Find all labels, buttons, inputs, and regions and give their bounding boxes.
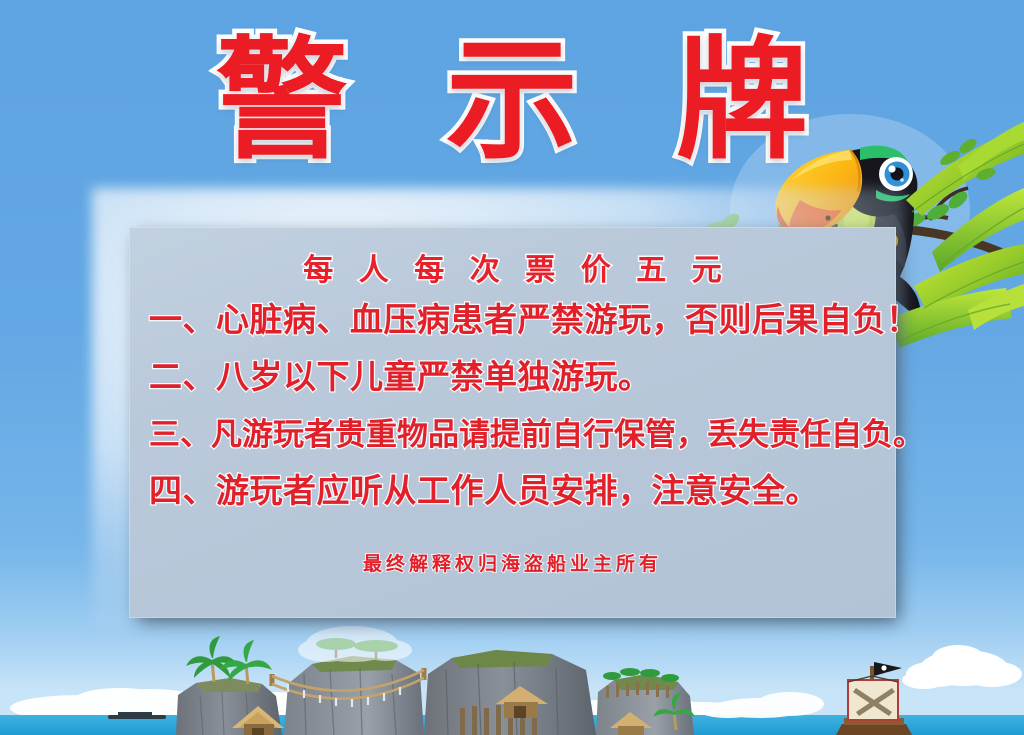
notice-content: 每 人 每 次 票 价 五 元 一、心脏病、血压病患者严禁游玩，否则后果自负！ … — [129, 227, 896, 618]
disclaimer-footer: 最终解释权归海盗船业主所有 — [129, 549, 916, 576]
rule-item-3: 三、凡游玩者贵重物品请提前自行保管，丢失责任自负。 — [129, 411, 896, 459]
page-title: 警 示 牌 — [0, 26, 1024, 176]
rule-item-2: 二、八岁以下儿童严禁单独游玩。 — [129, 354, 896, 402]
rules-list: 一、心脏病、血压病患者严禁游玩，否则后果自负！ 二、八岁以下儿童严禁单独游玩。 … — [129, 297, 896, 525]
rule-item-1: 一、心脏病、血压病患者严禁游玩，否则后果自负！ — [129, 297, 896, 345]
rule-item-4: 四、游玩者应听从工作人员安排，注意安全。 — [129, 468, 896, 516]
poster-canvas: 警 示 牌 每 人 每 次 票 价 五 元 一、心脏病、血压病患者严禁游玩，否则… — [0, 0, 1024, 735]
ticket-price-heading: 每 人 每 次 票 价 五 元 — [129, 245, 896, 289]
